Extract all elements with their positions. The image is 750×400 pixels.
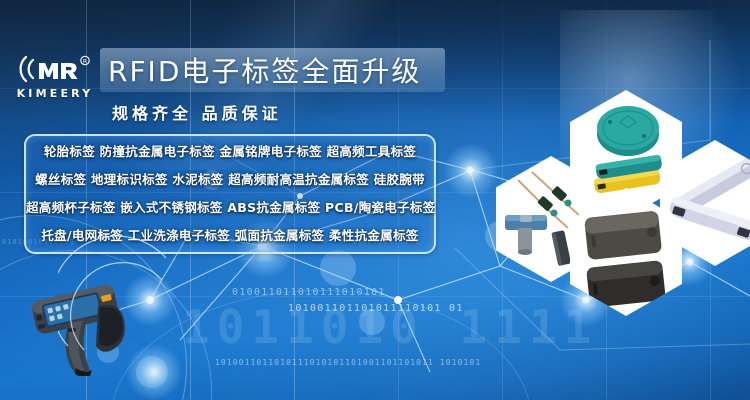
light-burst [444,144,498,198]
reader-signal-arcs [58,236,188,356]
logo-wordmark: KIMEERY [12,87,98,100]
rfid-promo-banner: 1011010 1111 010011011010111010101 10100… [0,0,750,400]
page-title: RFID电子标签全面升级 [108,50,440,90]
product-list-row: 超高频杯子标签 嵌入式不锈钢标签 ABS抗金属标签 PCB/陶瓷电子标签 [26,194,434,222]
kimeery-logo[interactable]: R KIMEERY [12,52,98,110]
page-subtitle: 规格齐全 品质保证 [112,100,282,124]
svg-text:R: R [83,59,87,66]
product-list-row: 螺丝标签 地理标识标签 水泥标签 超高频耐高温抗金属标签 硅胶腕带 [26,166,434,194]
signal-wave-icon: R [12,52,98,86]
logo-mark: R [12,52,98,86]
binary-line-3: 1010011011010111010101101001101101011 10… [215,358,481,367]
binary-line-1: 010011011010111010101 [232,287,386,298]
product-list-row: 轮胎标签 防撞抗金属电子标签 金属铭牌电子标签 超高频工具标签 [26,138,434,166]
binary-line-2: 101001101101011110101 01 [288,303,464,314]
